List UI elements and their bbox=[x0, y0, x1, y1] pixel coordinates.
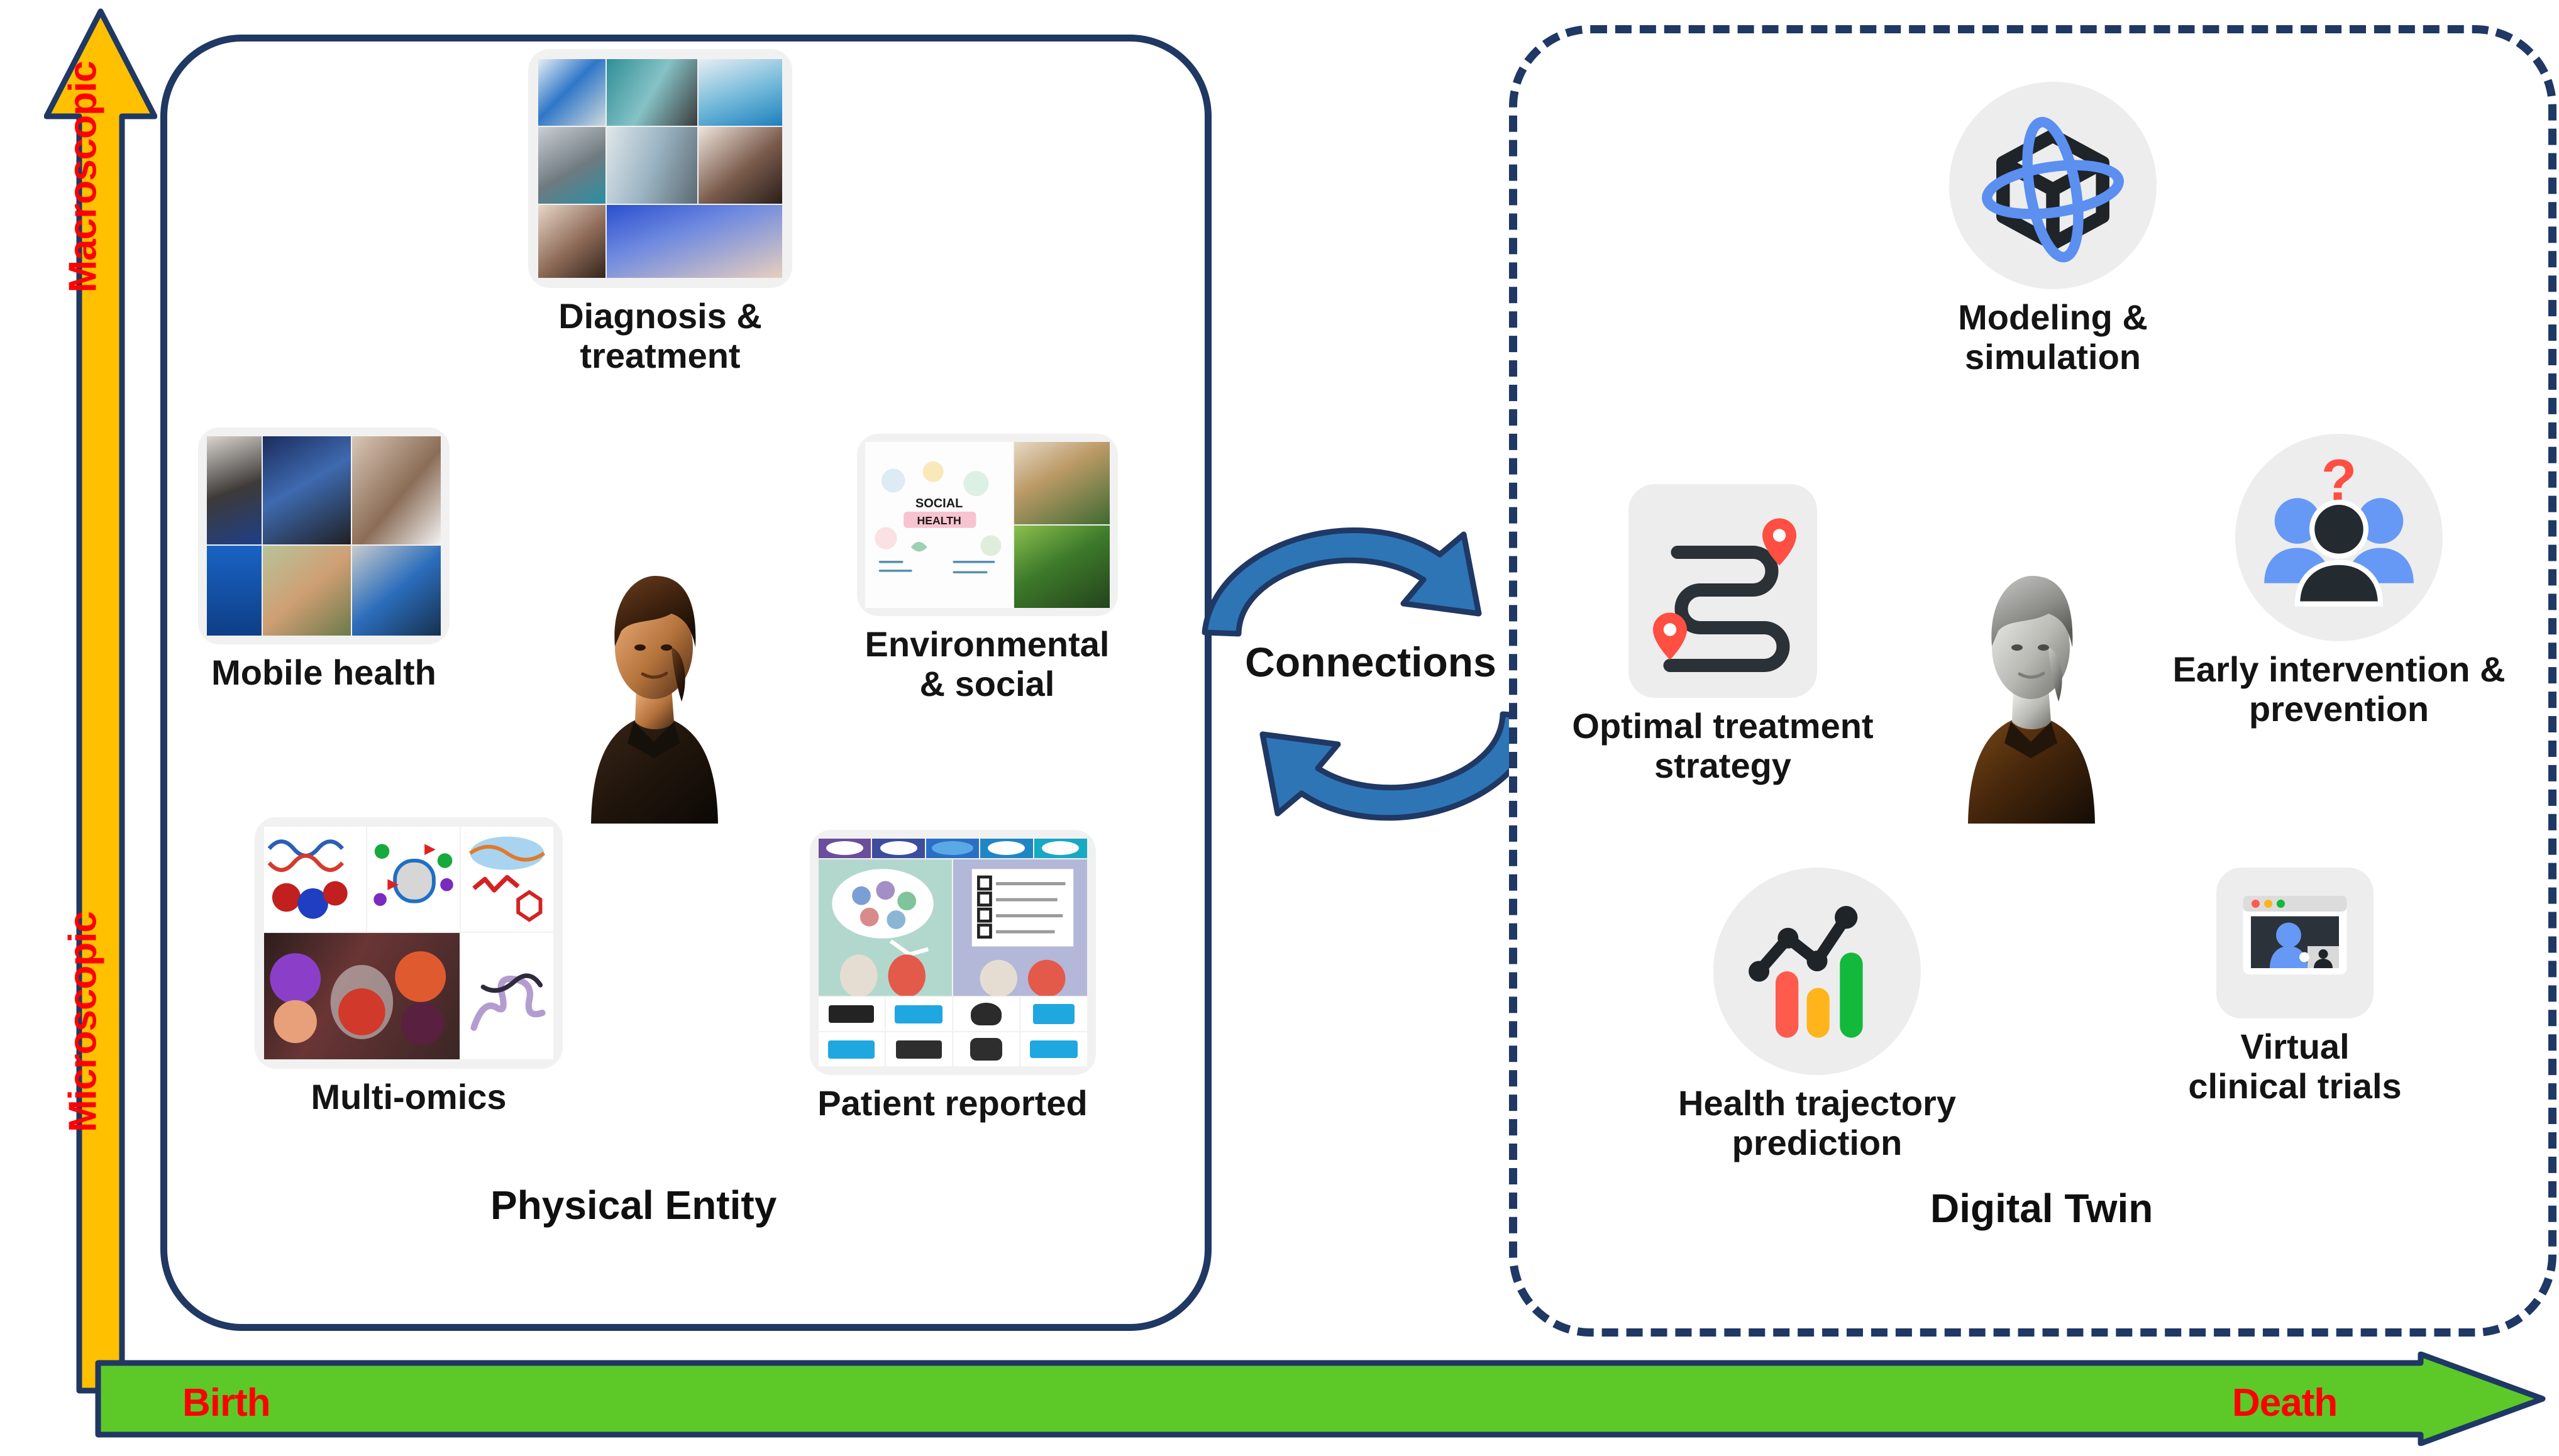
item-virtual-clinical-trials[interactable]: Virtual clinical trials bbox=[2138, 868, 2452, 1106]
item-label: Optimal treatment strategy bbox=[1559, 707, 1886, 785]
horizontal-axis-arrow bbox=[94, 1352, 2546, 1446]
item-label: Modeling & simulation bbox=[1921, 298, 2185, 377]
macroscopic-label: Macroscopic bbox=[61, 67, 106, 293]
item-optimal-treatment-strategy[interactable]: Optimal treatment strategy bbox=[1559, 484, 1886, 785]
environmental-social-collage: SOCIAL HEALTH bbox=[857, 434, 1118, 616]
item-label: Early intervention & prevention bbox=[2150, 650, 2528, 729]
svg-text:HEALTH: HEALTH bbox=[917, 514, 961, 527]
item-patient-reported[interactable]: Patient reported bbox=[783, 830, 1122, 1123]
physical-person-photo bbox=[566, 553, 742, 824]
item-modeling-simulation[interactable]: Modeling & simulation bbox=[1921, 82, 2185, 377]
patient-reported-collage bbox=[810, 830, 1096, 1075]
item-health-trajectory-prediction[interactable]: Health trajectory prediction bbox=[1654, 868, 1981, 1162]
microscopic-label: Microscopic bbox=[61, 909, 106, 1135]
multi-omics-collage bbox=[255, 817, 563, 1069]
vertical-axis-arrow: Macroscopic Microscopic bbox=[44, 6, 157, 1396]
physical-entity-title: Physical Entity bbox=[490, 1182, 777, 1228]
digital-twin-person-avatar bbox=[1943, 553, 2119, 824]
item-diagnosis-treatment[interactable]: Diagnosis & treatment bbox=[516, 49, 805, 375]
cube-orbit-icon bbox=[1949, 82, 2157, 289]
winding-road-pins-icon bbox=[1628, 484, 1817, 698]
diagnosis-treatment-collage bbox=[528, 49, 792, 288]
item-label: Health trajectory prediction bbox=[1654, 1084, 1981, 1162]
item-label: Multi-omics bbox=[245, 1078, 572, 1117]
item-label: Virtual clinical trials bbox=[2138, 1027, 2452, 1106]
death-label: Death bbox=[2232, 1381, 2337, 1425]
item-label: Patient reported bbox=[783, 1084, 1122, 1123]
birth-label: Birth bbox=[182, 1381, 270, 1425]
digital-twin-title: Digital Twin bbox=[1930, 1185, 2153, 1232]
item-multi-omics[interactable]: Multi-omics bbox=[245, 817, 572, 1117]
line-bar-chart-icon bbox=[1713, 868, 1921, 1075]
video-call-window-icon bbox=[2216, 868, 2374, 1018]
item-label: Diagnosis & treatment bbox=[516, 297, 805, 375]
item-label: Mobile health bbox=[176, 653, 472, 693]
item-mobile-health[interactable]: Mobile health bbox=[176, 427, 472, 693]
people-question-icon: ? bbox=[2235, 434, 2443, 641]
item-early-intervention-prevention[interactable]: ? Early intervention & prevention bbox=[2150, 434, 2528, 729]
mobile-health-collage bbox=[198, 427, 450, 644]
item-label: Environmental & social bbox=[843, 625, 1132, 703]
svg-text:SOCIAL: SOCIAL bbox=[915, 497, 963, 510]
item-environmental-social[interactable]: SOCIAL HEALTH Environmental & social bbox=[843, 434, 1132, 703]
